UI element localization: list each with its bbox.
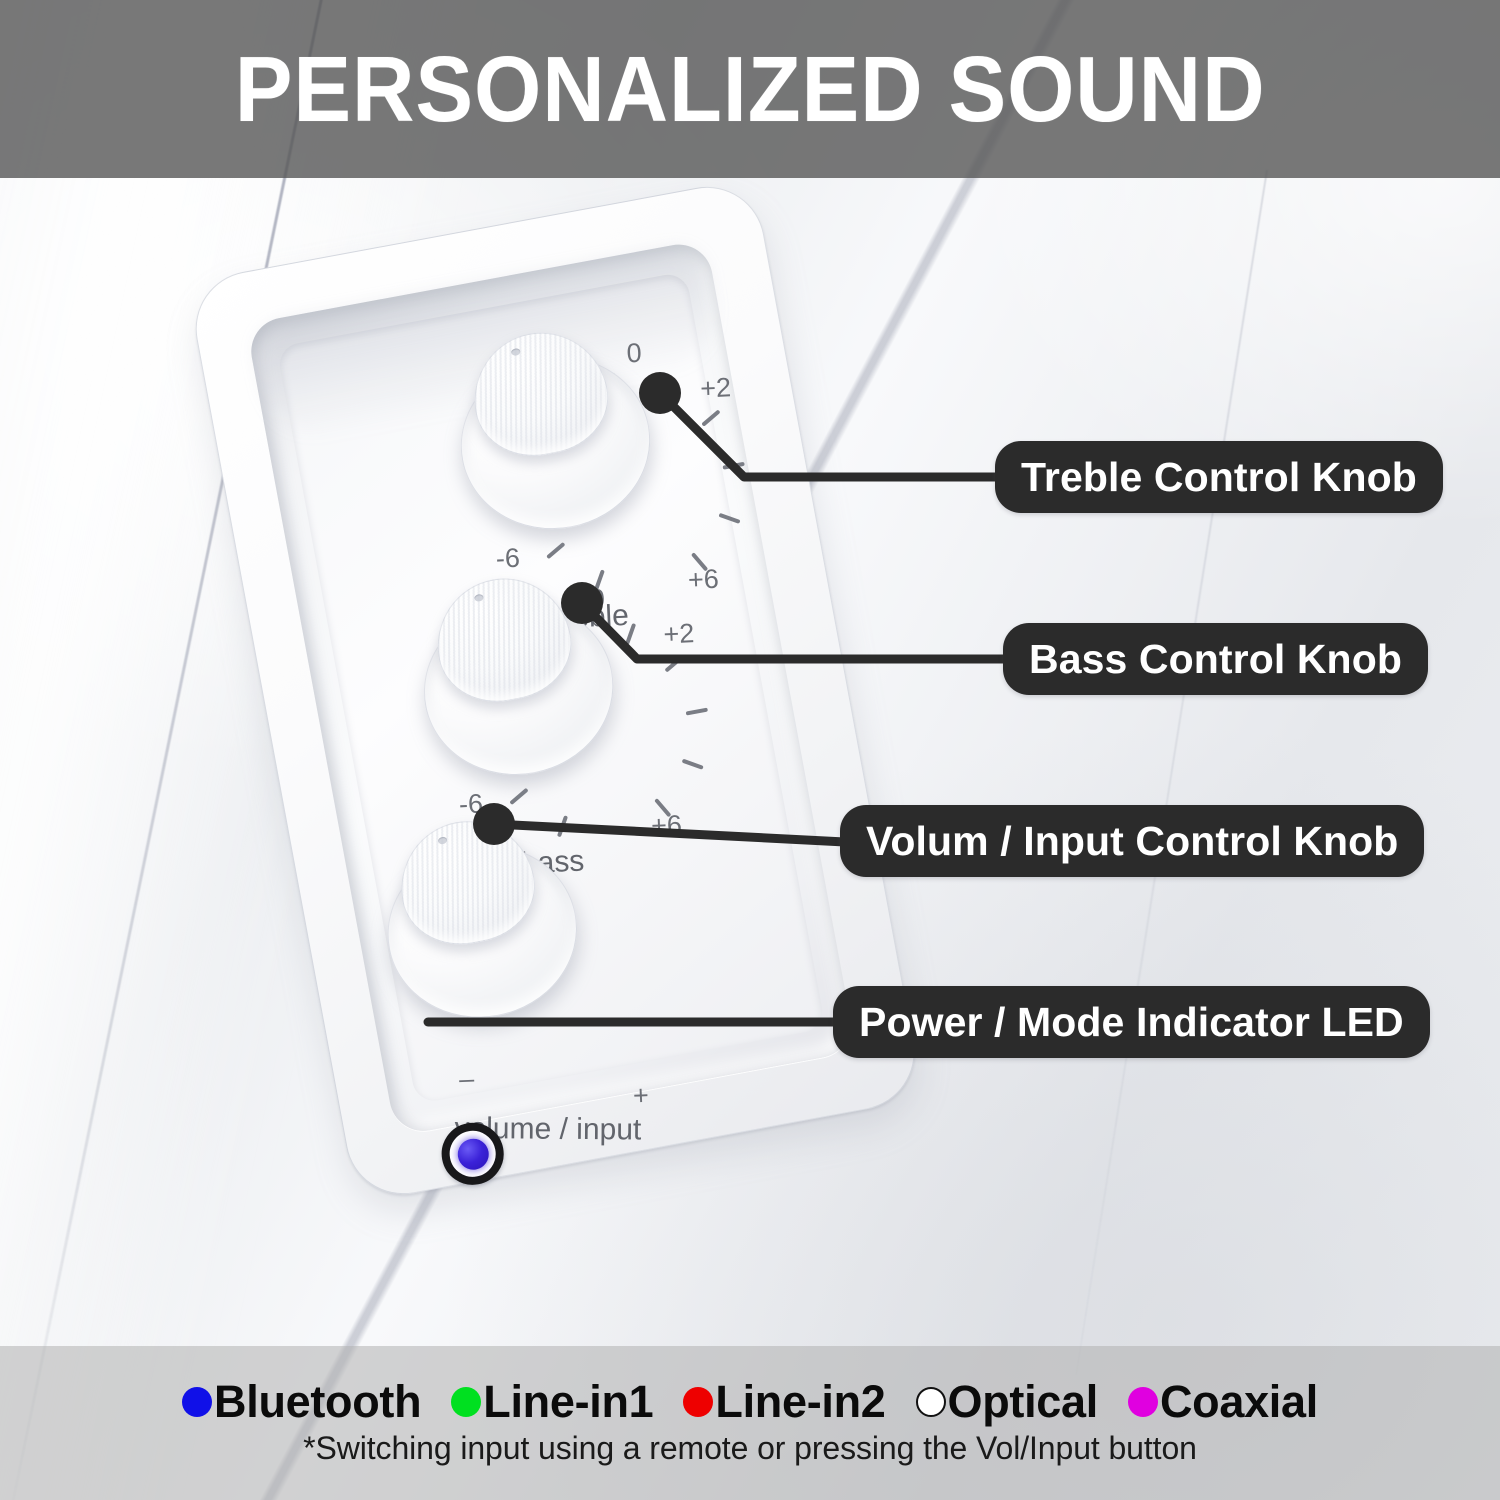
legend-item-optical: Optical: [916, 1379, 1098, 1424]
callout-power-mode-indicator-led[interactable]: Power / Mode Indicator LED: [833, 986, 1430, 1058]
callout-label: Volum / Input Control Knob: [866, 818, 1398, 865]
optical-color-dot: [916, 1387, 946, 1417]
bass-tick-0: 0: [589, 584, 605, 615]
legend-label: Line-in2: [715, 1379, 885, 1424]
input-legend-band: Bluetooth Line-in1 Line-in2 Optical Coax…: [0, 1346, 1500, 1500]
page-title: PERSONALIZED SOUND: [235, 43, 1266, 136]
input-legend-list: Bluetooth Line-in1 Line-in2 Optical Coax…: [182, 1379, 1318, 1424]
treble-tick-plus2: +2: [700, 372, 732, 403]
callout-bass-control-knob[interactable]: Bass Control Knob: [1003, 623, 1428, 695]
legend-label: Coaxial: [1160, 1379, 1318, 1424]
legend-label: Bluetooth: [214, 1379, 421, 1424]
coaxial-color-dot: [1128, 1387, 1158, 1417]
led-dot: [455, 1136, 491, 1172]
bass-tick-plus2: +2: [663, 618, 695, 649]
legend-footnote: *Switching input using a remote or press…: [303, 1430, 1197, 1467]
legend-item-line-in2: Line-in2: [683, 1379, 885, 1424]
infographic-canvas: PERSONALIZED SOUND: [0, 0, 1500, 1500]
legend-item-coaxial: Coaxial: [1128, 1379, 1318, 1424]
legend-label: Line-in1: [483, 1379, 653, 1424]
line-in1-color-dot: [451, 1387, 481, 1417]
volume-plus-label: +: [632, 1080, 649, 1111]
bluetooth-color-dot: [182, 1387, 212, 1417]
bass-tick-minus6: -6: [458, 789, 483, 820]
callout-label: Treble Control Knob: [1021, 454, 1417, 501]
legend-label: Optical: [948, 1379, 1098, 1424]
volume-minus-label: –: [458, 1063, 474, 1094]
line-in2-color-dot: [683, 1387, 713, 1417]
callout-label: Bass Control Knob: [1029, 636, 1402, 683]
treble-knob[interactable]: 0 +2 -6 +6 treble: [438, 315, 666, 543]
treble-tick-0: 0: [626, 338, 642, 369]
legend-item-bluetooth: Bluetooth: [182, 1379, 421, 1424]
callout-volume-input-control-knob[interactable]: Volum / Input Control Knob: [840, 805, 1424, 877]
legend-item-line-in1: Line-in1: [451, 1379, 653, 1424]
callout-treble-control-knob[interactable]: Treble Control Knob: [995, 441, 1443, 513]
treble-tick-minus6: -6: [495, 543, 520, 574]
volume-input-knob[interactable]: – + volume / input: [365, 804, 593, 1032]
callout-label: Power / Mode Indicator LED: [859, 999, 1404, 1046]
bass-knob[interactable]: 0 +2 -6 +6 bass: [401, 561, 629, 789]
header-band: PERSONALIZED SOUND: [0, 0, 1500, 178]
